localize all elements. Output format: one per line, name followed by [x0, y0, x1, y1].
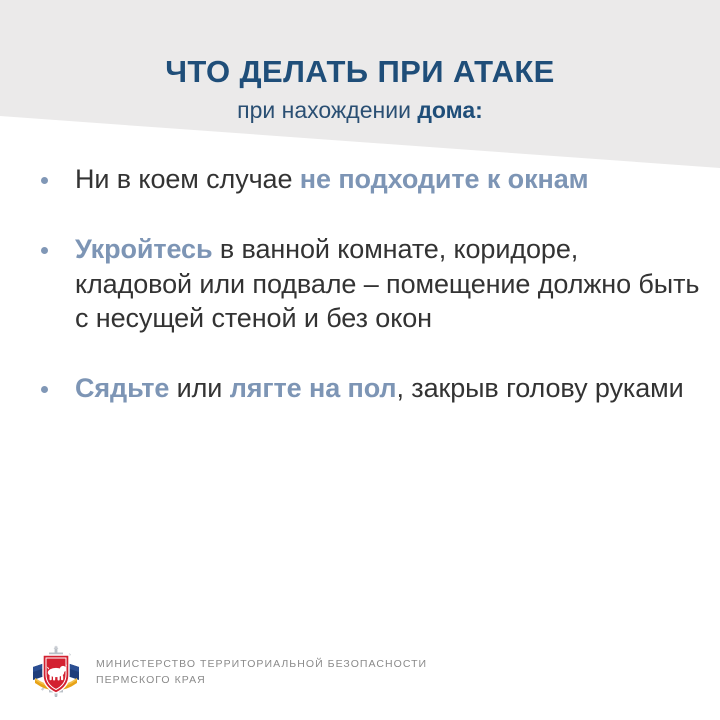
- text-segment-highlight: Сядьте: [75, 373, 169, 403]
- footer-line-1: МИНИСТЕРСТВО ТЕРРИТОРИАЛЬНОЙ БЕЗОПАСНОСТ…: [96, 656, 427, 672]
- list-item-text: Укройтесь в ванной комнате, коридоре, кл…: [75, 232, 702, 335]
- footer: МИНИСТЕРСТВО ТЕРРИТОРИАЛЬНОЙ БЕЗОПАСНОСТ…: [0, 624, 720, 720]
- text-segment: , закрыв голову руками: [397, 373, 684, 403]
- bullet-dot-icon: [41, 177, 48, 184]
- list-item-text: Ни в коем случае не подходите к окнам: [75, 162, 702, 196]
- poster-root: ЧТО ДЕЛАТЬ ПРИ АТАКЕ при нахождении дома…: [0, 0, 720, 720]
- list-item: Ни в коем случае не подходите к окнам: [0, 162, 720, 196]
- page-title: ЧТО ДЕЛАТЬ ПРИ АТАКЕ: [0, 0, 720, 89]
- bullet-dot-icon: [41, 386, 48, 393]
- header: ЧТО ДЕЛАТЬ ПРИ АТАКЕ при нахождении дома…: [0, 0, 720, 125]
- subtitle-bold-part: дома:: [417, 97, 483, 123]
- bullet-dot-icon: [41, 247, 48, 254]
- list-item: Сядьте или лягте на пол, закрыв голову р…: [0, 371, 720, 405]
- list-item-text: Сядьте или лягте на пол, закрыв голову р…: [75, 371, 702, 405]
- subtitle-regular-part: при нахождении: [237, 97, 417, 123]
- text-segment-highlight: лягте на пол: [230, 373, 397, 403]
- ministry-emblem-icon: [30, 645, 82, 699]
- text-segment: или: [169, 373, 229, 403]
- footer-line-2: ПЕРМСКОГО КРАЯ: [96, 672, 427, 688]
- text-segment-highlight: Укройтесь: [75, 234, 212, 264]
- text-segment-highlight: не подходите к окнам: [300, 164, 589, 194]
- footer-text-block: МИНИСТЕРСТВО ТЕРРИТОРИАЛЬНОЙ БЕЗОПАСНОСТ…: [96, 656, 427, 689]
- list-item: Укройтесь в ванной комнате, коридоре, кл…: [0, 232, 720, 335]
- page-subtitle: при нахождении дома:: [0, 89, 720, 125]
- instruction-list: Ни в коем случае не подходите к окнам Ук…: [0, 162, 720, 441]
- text-segment: Ни в коем случае: [75, 164, 300, 194]
